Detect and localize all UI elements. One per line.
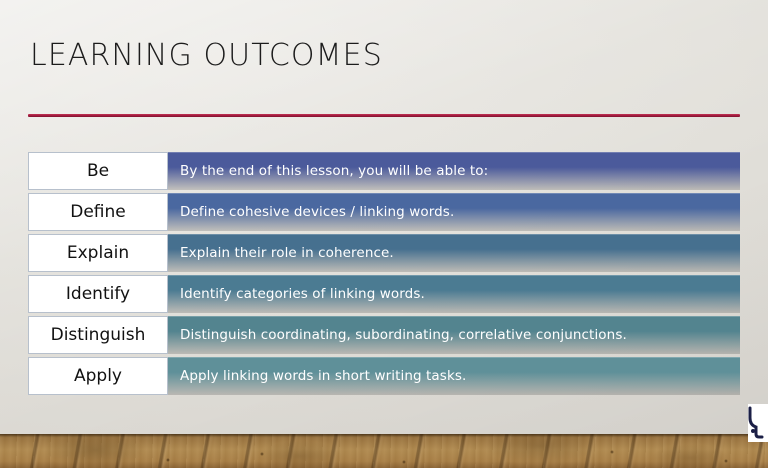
outcome-term-cell: Be [28, 152, 168, 190]
cursor-glyph-icon [748, 404, 768, 442]
floor-top-edge-shadow [0, 434, 768, 437]
table-row: IdentifyIdentify categories of linking w… [28, 275, 740, 313]
learning-outcomes-table: BeBy the end of this lesson, you will be… [28, 152, 740, 395]
table-row: BeBy the end of this lesson, you will be… [28, 152, 740, 190]
outcome-description-cell: Distinguish coordinating, subordinating,… [168, 316, 740, 354]
table-row: DistinguishDistinguish coordinating, sub… [28, 316, 740, 354]
outcome-description-cell: Define cohesive devices / linking words. [168, 193, 740, 231]
table-row: ExplainExplain their role in coherence. [28, 234, 740, 272]
outcome-description-cell: Explain their role in coherence. [168, 234, 740, 272]
outcome-description-cell: By the end of this lesson, you will be a… [168, 152, 740, 190]
presentation-slide: LEARNING OUTCOMES BeBy the end of this l… [0, 0, 768, 468]
outcome-description-cell: Apply linking words in short writing tas… [168, 357, 740, 395]
outcome-term-cell: Identify [28, 275, 168, 313]
title-underline-rule [28, 114, 740, 117]
outcome-term-cell: Apply [28, 357, 168, 395]
outcome-description-cell: Identify categories of linking words. [168, 275, 740, 313]
table-row: ApplyApply linking words in short writin… [28, 357, 740, 395]
slide-title: LEARNING OUTCOMES [30, 38, 383, 73]
floor-knots-and-shading [0, 434, 768, 468]
corner-badge [748, 404, 768, 442]
outcome-term-cell: Define [28, 193, 168, 231]
outcome-term-cell: Explain [28, 234, 168, 272]
outcome-term-cell: Distinguish [28, 316, 168, 354]
wood-floor-background [0, 434, 768, 468]
table-row: DefineDefine cohesive devices / linking … [28, 193, 740, 231]
